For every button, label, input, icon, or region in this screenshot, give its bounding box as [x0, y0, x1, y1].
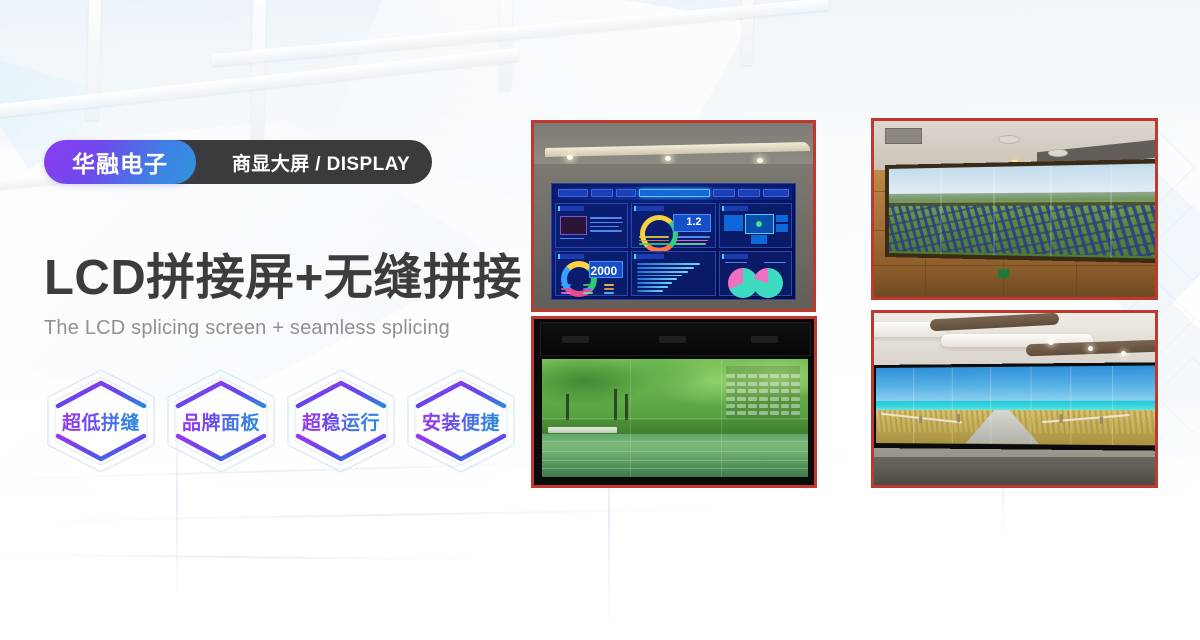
- feature-badge: 超稳运行: [284, 366, 398, 476]
- feature-badge: 安装便捷: [404, 366, 518, 476]
- photo-lcd-wall-willow: [531, 316, 817, 488]
- photo-lcd-wall-dashboard: 1.2: [531, 120, 816, 312]
- hero-text-column: 商显大屏 / DISPLAY 华融电子 LCD拼接屏+无缝拼接 The LCD …: [44, 140, 524, 476]
- feature-badge-label: 安装便捷: [422, 408, 500, 435]
- feature-badge-row: 超低拼缝 品牌面板: [44, 366, 524, 476]
- feature-badge-label: 超低拼缝: [62, 408, 140, 435]
- page-title: LCD拼接屏+无缝拼接: [44, 253, 524, 304]
- photo-lcd-wall-beach: [871, 310, 1158, 488]
- feature-badge-label: 品牌面板: [182, 408, 260, 435]
- feature-badge: 品牌面板: [164, 366, 278, 476]
- brand-pill-label: 华融电子: [72, 145, 168, 179]
- product-banner: 商显大屏 / DISPLAY 华融电子 LCD拼接屏+无缝拼接 The LCD …: [0, 0, 1200, 640]
- feature-badge: 超低拼缝: [44, 366, 158, 476]
- feature-badge-label: 超稳运行: [302, 408, 380, 435]
- brand-pill: 华融电子: [44, 140, 196, 184]
- photo-lcd-wall-solar: [871, 118, 1158, 300]
- page-subtitle: The LCD splicing screen + seamless splic…: [44, 317, 524, 340]
- category-pill-label: 商显大屏 / DISPLAY: [232, 149, 410, 176]
